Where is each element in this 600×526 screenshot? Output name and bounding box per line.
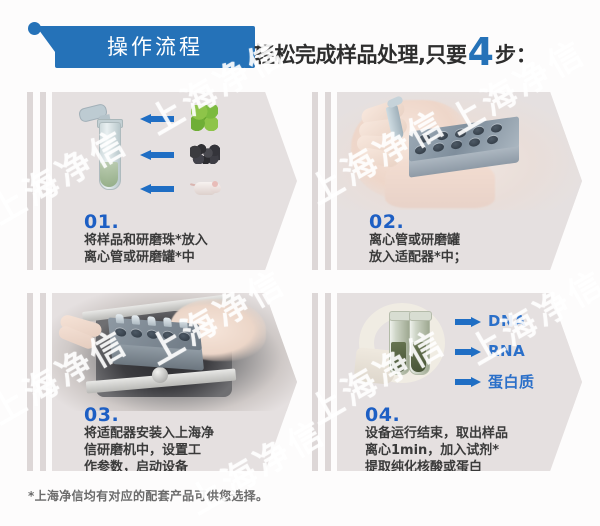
step-2-illustration [337, 92, 582, 210]
sample-row-plant [140, 108, 260, 130]
card-panel: 01. 将样品和研磨珠*放入 离心管或研磨罐*中 [52, 92, 297, 270]
card-panel: 02. 离心管或研磨罐 放入适配器*中； [337, 92, 582, 270]
step-1-illustration [52, 92, 297, 210]
output-row-protein: 蛋白质 [455, 371, 535, 391]
step-text-line: 提取纯化核酸或蛋白 [365, 459, 580, 471]
card-panel: DNA RNA 蛋白质 04. 设备运行结束，取出样品 [337, 293, 582, 471]
step-4-caption: 04. 设备运行结束，取出样品 离心1min，加入试剂* 提取纯化核酸或蛋白 [365, 405, 580, 471]
mouse-icon [188, 174, 224, 204]
step-card-3: 03. 将适配器安装入上海净 信研磨机中，设置工 作参数，启动设备 [27, 293, 297, 471]
step-2-caption: 02. 离心管或研磨罐 放入适配器*中； [369, 212, 574, 266]
arrow-left-icon [140, 184, 174, 193]
sample-tube-icon [389, 315, 410, 375]
beads-icon [188, 140, 224, 170]
step-text-line: 离心管或研磨罐 [369, 232, 574, 249]
card-panel: 03. 将适配器安装入上海净 信研磨机中，设置工 作参数，启动设备 [52, 293, 297, 471]
headline-suffix: 步： [495, 39, 537, 69]
step-text-line: 离心1min，加入试剂* [365, 442, 580, 459]
arrow-left-icon [140, 114, 174, 123]
arrow-left-icon [140, 150, 174, 159]
arrow-right-icon [455, 377, 481, 386]
step-text-line: 信研磨机中，设置工 [84, 442, 289, 459]
headline-step-count: 4 [467, 33, 493, 71]
step-number: 02. [369, 212, 574, 232]
step-1-caption: 01. 将样品和研磨珠*放入 离心管或研磨罐*中 [84, 212, 289, 266]
process-flow-infographic: 操作流程 轻松完成样品处理,只要 4 步： [0, 0, 600, 526]
step-text-line: 放入适配器*中； [369, 249, 574, 266]
section-banner: 操作流程 [28, 20, 258, 68]
leaf-icon [188, 104, 224, 134]
sample-row-animal [140, 178, 260, 200]
sample-tube-icon [409, 315, 430, 375]
step-3-illustration [52, 293, 297, 411]
card-accent-bar [27, 92, 33, 270]
adapter-block-icon [108, 317, 205, 372]
arrow-right-icon [455, 317, 481, 326]
output-label: DNA [488, 312, 526, 330]
card-accent-bar [325, 293, 331, 471]
card-accent-bar [27, 293, 33, 471]
arrow-right-icon [455, 347, 481, 356]
step-number: 01. [84, 212, 289, 232]
step-4-illustration: DNA RNA 蛋白质 [337, 293, 582, 411]
headline: 轻松完成样品处理,只要 4 步： [254, 30, 537, 70]
card-accent-bar [40, 92, 46, 270]
output-row-dna: DNA [455, 311, 526, 331]
step-card-2: 02. 离心管或研磨罐 放入适配器*中； [312, 92, 582, 270]
step-text-line: 作参数，启动设备 [84, 459, 289, 471]
step-number: 04. [365, 405, 580, 425]
card-accent-bar [40, 293, 46, 471]
headline-prefix: 轻松完成样品处理,只要 [254, 39, 466, 69]
output-label: RNA [488, 342, 525, 360]
centrifuge-tube-icon [92, 106, 126, 198]
card-accent-bar [312, 293, 318, 471]
card-accent-bar [325, 92, 331, 270]
step-card-4: DNA RNA 蛋白质 04. 设备运行结束，取出样品 [312, 293, 582, 471]
banner-body: 操作流程 [55, 26, 255, 68]
step-3-caption: 03. 将适配器安装入上海净 信研磨机中，设置工 作参数，启动设备 [84, 405, 289, 471]
step-card-1: 01. 将样品和研磨珠*放入 离心管或研磨罐*中 [27, 92, 297, 270]
step-text-line: 将适配器安装入上海净 [84, 425, 289, 442]
step-text-line: 设备运行结束，取出样品 [365, 425, 580, 442]
tube-contents [100, 162, 118, 187]
step-text-line: 将样品和研磨珠*放入 [84, 232, 289, 249]
sample-row-beads [140, 144, 260, 166]
footnote: *上海净信均有对应的配套产品可供您选择。 [28, 487, 268, 504]
output-label: 蛋白质 [488, 371, 535, 392]
banner-label: 操作流程 [107, 37, 203, 58]
step-text-line: 离心管或研磨罐*中 [84, 249, 289, 266]
card-accent-bar [312, 92, 318, 270]
header: 操作流程 轻松完成样品处理,只要 4 步： [0, 0, 600, 88]
output-row-rna: RNA [455, 341, 525, 361]
step-number: 03. [84, 405, 289, 425]
